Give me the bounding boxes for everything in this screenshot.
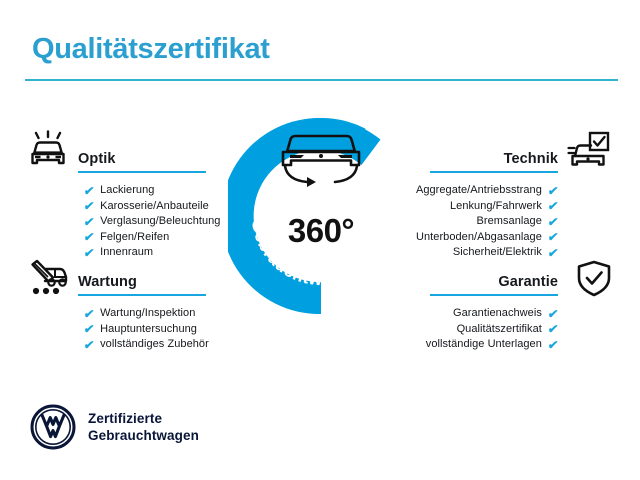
checklist-technik: Aggregate/Antriebsstrang✔ Lenkung/Fahrwe… bbox=[430, 183, 554, 261]
list-item-label: vollständiges Zubehör bbox=[100, 337, 209, 353]
check-icon: ✔ bbox=[547, 200, 559, 212]
list-item-label: Bremsanlage bbox=[477, 214, 542, 230]
list-item-label: Garantienachweis bbox=[453, 306, 542, 322]
section-header: Wartung bbox=[78, 268, 206, 294]
list-item: Qualitätszertifikat✔ bbox=[320, 322, 558, 338]
check-icon: ✔ bbox=[547, 185, 559, 197]
check-icon: ✔ bbox=[547, 323, 559, 335]
list-item-label: Verglasung/Beleuchtung bbox=[100, 214, 220, 230]
list-item-label: Innenraum bbox=[100, 245, 153, 261]
list-item-label: Wartung/Inspektion bbox=[100, 306, 195, 322]
car-shine-icon bbox=[26, 130, 70, 170]
check-icon: ✔ bbox=[547, 216, 559, 228]
volkswagen-logo bbox=[30, 404, 76, 450]
list-item-label: Aggregate/Antriebsstrang bbox=[416, 183, 542, 199]
section-underline bbox=[430, 294, 558, 296]
check-icon: ✔ bbox=[83, 185, 95, 197]
list-item-label: Hauptuntersuchung bbox=[100, 322, 197, 338]
section-header: Technik bbox=[430, 145, 558, 171]
section-underline bbox=[430, 171, 558, 173]
list-item: ✔Wartung/Inspektion bbox=[84, 306, 206, 322]
section-title: Garantie bbox=[498, 274, 558, 290]
check-icon: ✔ bbox=[547, 308, 559, 320]
badge-degrees: 360° bbox=[228, 212, 414, 250]
car-wrench-icon bbox=[26, 258, 70, 298]
section-title: Optik bbox=[78, 151, 116, 167]
checklist-optik: ✔Lackierung ✔Karosserie/Anbauteile ✔Verg… bbox=[84, 183, 206, 261]
list-item-label: Qualitätszertifikat bbox=[457, 322, 542, 338]
footer-logo-text: Zertifizierte Gebrauchtwagen bbox=[88, 410, 199, 444]
car-checkbox-icon bbox=[566, 131, 610, 171]
list-item: ✔Felgen/Reifen bbox=[84, 230, 206, 246]
check-icon: ✔ bbox=[83, 323, 95, 335]
section-header: Optik bbox=[78, 145, 206, 171]
check-icon: ✔ bbox=[83, 308, 95, 320]
check-icon: ✔ bbox=[547, 247, 559, 259]
list-item-label: Lackierung bbox=[100, 183, 154, 199]
checklist-wartung: ✔Wartung/Inspektion ✔Hauptuntersuchung ✔… bbox=[84, 306, 206, 353]
list-item: vollständige Unterlagen✔ bbox=[320, 337, 558, 353]
title-divider bbox=[25, 79, 618, 81]
list-item: ✔Hauptuntersuchung bbox=[84, 322, 206, 338]
list-item-label: Felgen/Reifen bbox=[100, 230, 169, 246]
list-item-label: Lenkung/Fahrwerk bbox=[450, 199, 542, 215]
section-title: Wartung bbox=[78, 274, 137, 290]
checklist-garantie: Garantienachweis✔ Qualitätszertifikat✔ v… bbox=[430, 306, 554, 353]
page-title: Qualitätszertifikat bbox=[32, 32, 270, 66]
section-header: Garantie bbox=[430, 268, 558, 294]
footer-line-2: Gebrauchtwagen bbox=[88, 427, 199, 444]
footer-line-1: Zertifizierte bbox=[88, 410, 199, 427]
check-icon: ✔ bbox=[547, 339, 559, 351]
section-technik: Technik Aggregate/Antriebsstrang✔ Lenkun… bbox=[430, 145, 558, 261]
check-icon: ✔ bbox=[83, 339, 95, 351]
section-optik: Optik ✔Lackierung ✔Karosserie/Anbauteile… bbox=[78, 145, 206, 261]
footer-logo-block: Zertifizierte Gebrauchtwagen bbox=[30, 404, 199, 450]
list-item: ✔Innenraum bbox=[84, 245, 206, 261]
check-icon: ✔ bbox=[547, 231, 559, 243]
shield-check-icon bbox=[572, 259, 616, 299]
list-item-label: Karosserie/Anbauteile bbox=[100, 199, 209, 215]
section-wartung: Wartung ✔Wartung/Inspektion ✔Hauptunters… bbox=[78, 268, 206, 353]
section-underline bbox=[78, 294, 206, 296]
check-icon: ✔ bbox=[83, 216, 95, 228]
list-item-label: Unterboden/Abgasanlage bbox=[416, 230, 542, 246]
check-icon: ✔ bbox=[83, 200, 95, 212]
list-item: ✔vollständiges Zubehör bbox=[84, 337, 206, 353]
section-underline bbox=[78, 171, 206, 173]
check-icon: ✔ bbox=[83, 247, 95, 259]
list-item-label: Sicherheit/Elektrik bbox=[453, 245, 542, 261]
list-item: ✔Lackierung bbox=[84, 183, 206, 199]
check-icon: ✔ bbox=[83, 231, 95, 243]
section-title: Technik bbox=[504, 151, 558, 167]
list-item: ✔Karosserie/Anbauteile bbox=[84, 199, 206, 215]
list-item: ✔Verglasung/Beleuchtung bbox=[84, 214, 206, 230]
section-garantie: Garantie Garantienachweis✔ Qualitätszert… bbox=[430, 268, 558, 353]
list-item-label: vollständige Unterlagen bbox=[426, 337, 542, 353]
badge-360-gebrauchtwagen-check: Gebrauchtwagen-Check 360° bbox=[228, 118, 414, 314]
